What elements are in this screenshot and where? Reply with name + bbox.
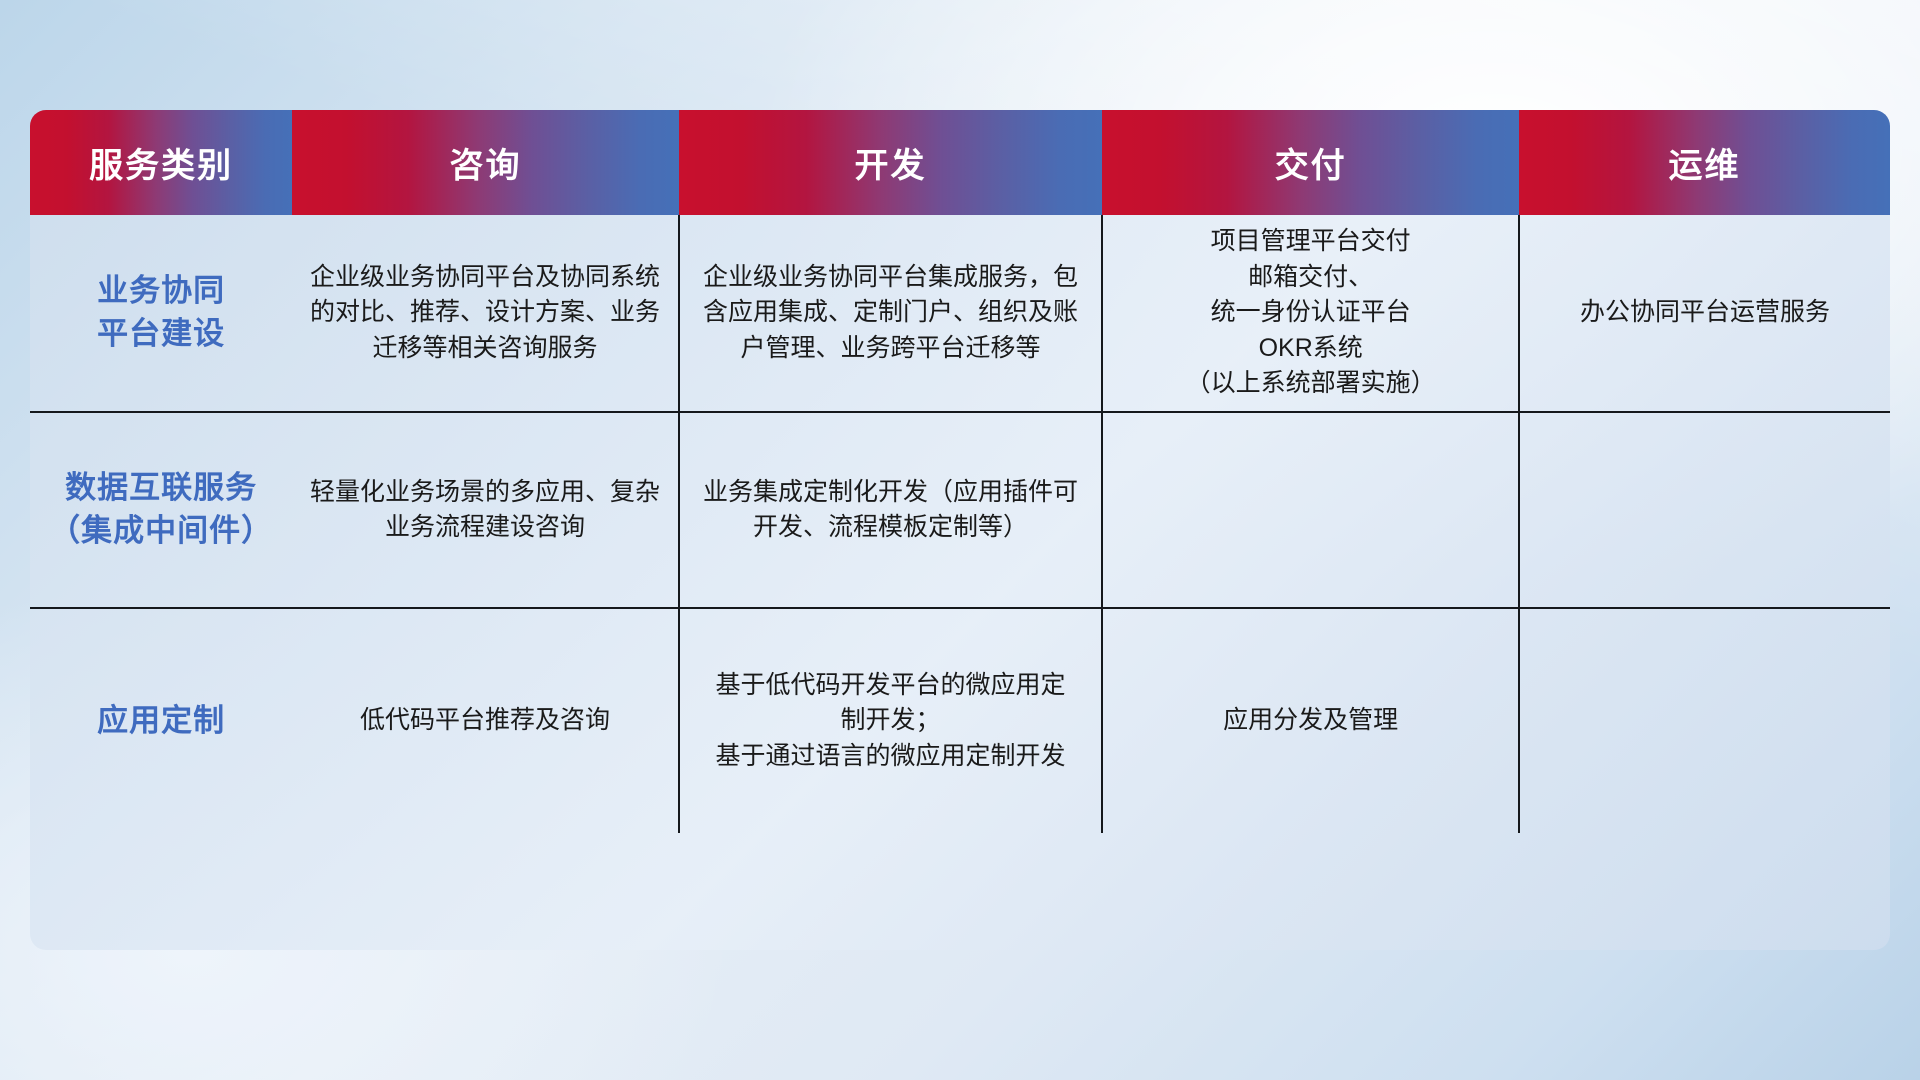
table-header: 服务类别 咨询 开发 交付 运维 (30, 110, 1890, 215)
row-label-line: （集成中间件） (44, 510, 278, 553)
cell-consulting-r3: 低代码平台推荐及咨询 (292, 608, 679, 833)
cell-delivery-r2 (1102, 412, 1519, 608)
cell-line: 基于通过语言的微应用定制开发 (694, 739, 1088, 775)
cell-line: 制开发； (694, 703, 1088, 739)
matrix: 服务类别 咨询 开发 交付 运维 业务协同 平台建设 (30, 110, 1890, 833)
cell-line: OKR系统 (1117, 331, 1504, 367)
table-row: 业务协同 平台建设 企业级业务协同平台及协同系统的对比、推荐、设计方案、业务迁移… (30, 215, 1890, 412)
row-label-data-interconnect: 数据互联服务 （集成中间件） (30, 412, 292, 608)
header-cell-operations[interactable]: 运维 (1519, 110, 1890, 215)
header-cell-category[interactable]: 服务类别 (30, 110, 292, 215)
cell-line: 邮箱交付、 (1117, 260, 1504, 296)
row-label-business-collab: 业务协同 平台建设 (30, 215, 292, 412)
cell-line: 项目管理平台交付 (1117, 224, 1504, 260)
table-row: 数据互联服务 （集成中间件） 轻量化业务场景的多应用、复杂业务流程建设咨询 业务… (30, 412, 1890, 608)
cell-development-r3: 基于低代码开发平台的微应用定 制开发； 基于通过语言的微应用定制开发 (679, 608, 1103, 833)
cell-operations-r1: 办公协同平台运营服务 (1519, 215, 1890, 412)
cell-line: 统一身份认证平台 (1117, 295, 1504, 331)
cell-line: 应用分发及管理 (1117, 703, 1504, 739)
cell-consulting-r2: 轻量化业务场景的多应用、复杂业务流程建设咨询 (292, 412, 679, 608)
row-label-line: 业务协同 (44, 270, 278, 313)
row-label-line: 数据互联服务 (44, 467, 278, 510)
cell-operations-r3 (1519, 608, 1890, 833)
row-label-app-customization: 应用定制 (30, 608, 292, 833)
row-label-line: 应用定制 (44, 700, 278, 743)
service-matrix-table: 服务类别 咨询 开发 交付 运维 业务协同 平台建设 (30, 110, 1890, 950)
cell-consulting-r1: 企业级业务协同平台及协同系统的对比、推荐、设计方案、业务迁移等相关咨询服务 (292, 215, 679, 412)
table-row: 应用定制 低代码平台推荐及咨询 基于低代码开发平台的微应用定 制开发； 基于通过… (30, 608, 1890, 833)
cell-line: 基于低代码开发平台的微应用定 (694, 668, 1088, 704)
header-cell-development[interactable]: 开发 (679, 110, 1103, 215)
cell-development-r1: 企业级业务协同平台集成服务，包含应用集成、定制门户、组织及账户管理、业务跨平台迁… (679, 215, 1103, 412)
cell-operations-r2 (1519, 412, 1890, 608)
header-cell-delivery[interactable]: 交付 (1102, 110, 1519, 215)
header-row: 服务类别 咨询 开发 交付 运维 (30, 110, 1890, 215)
slide-canvas: 服务类别 咨询 开发 交付 运维 业务协同 平台建设 (0, 0, 1920, 1080)
row-label-line: 平台建设 (44, 313, 278, 356)
table-body: 业务协同 平台建设 企业级业务协同平台及协同系统的对比、推荐、设计方案、业务迁移… (30, 215, 1890, 833)
cell-delivery-r3: 应用分发及管理 (1102, 608, 1519, 833)
cell-development-r2: 业务集成定制化开发（应用插件可开发、流程模板定制等） (679, 412, 1103, 608)
header-cell-consulting[interactable]: 咨询 (292, 110, 679, 215)
cell-line: （以上系统部署实施） (1117, 366, 1504, 402)
cell-delivery-r1: 项目管理平台交付 邮箱交付、 统一身份认证平台 OKR系统 （以上系统部署实施） (1102, 215, 1519, 412)
